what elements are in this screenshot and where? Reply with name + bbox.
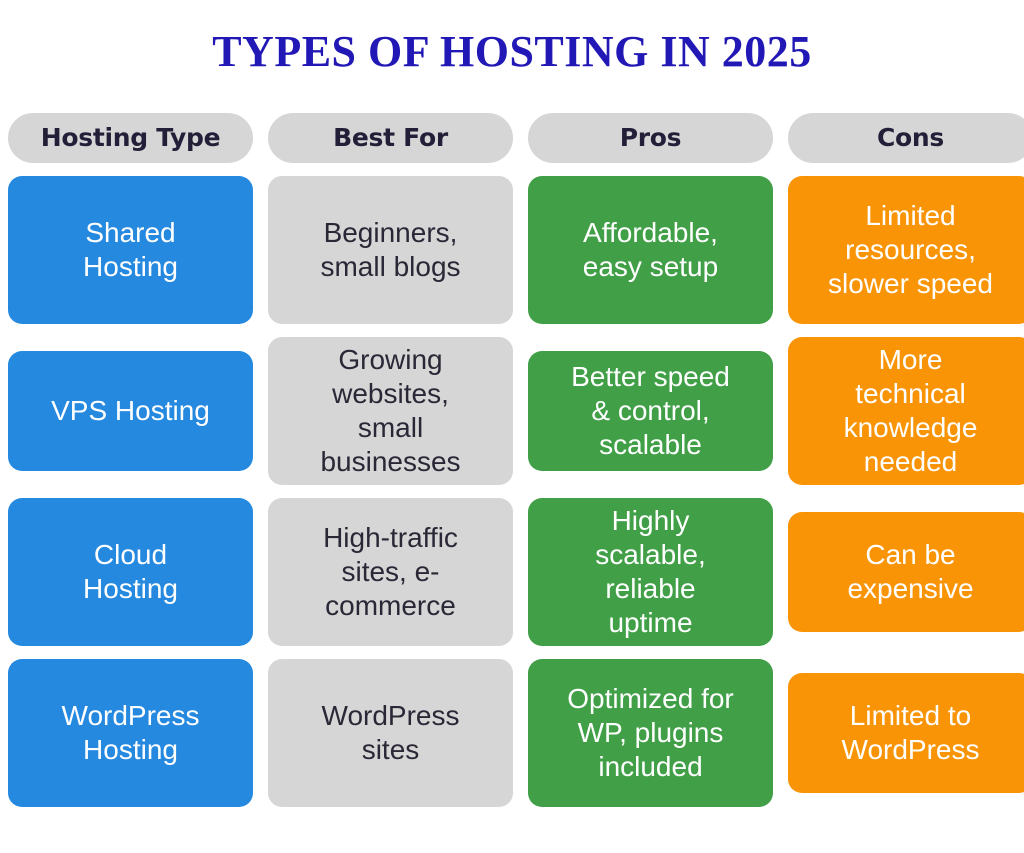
page-title: TYPES OF HOSTING IN 2025 xyxy=(0,30,1024,74)
cell-best-for: Growing websites, small businesses xyxy=(268,337,513,485)
cell-cons: More technical knowledge needed xyxy=(788,337,1024,485)
cell-cons: Limited to WordPress xyxy=(788,673,1024,793)
cell-hosting-type: WordPress Hosting xyxy=(8,659,253,807)
cell-text: Limited to WordPress xyxy=(842,699,980,767)
column-header-label: Cons xyxy=(877,125,944,151)
cell-pros: Optimized for WP, plugins included xyxy=(528,659,773,807)
cell-text: Beginners, small blogs xyxy=(320,216,460,284)
cell-pros: Highly scalable, reliable uptime xyxy=(528,498,773,646)
column-header-label: Best For xyxy=(333,125,448,151)
cell-text: Shared Hosting xyxy=(83,216,178,284)
cell-pros: Better speed & control, scalable xyxy=(528,351,773,471)
cell-text: Limited resources, slower speed xyxy=(828,199,993,301)
cell-text: VPS Hosting xyxy=(51,394,210,428)
cell-text: Optimized for WP, plugins included xyxy=(567,682,734,784)
cell-hosting-type: Shared Hosting xyxy=(8,176,253,324)
cell-hosting-type: Cloud Hosting xyxy=(8,498,253,646)
column-header-cons: Cons xyxy=(788,113,1024,163)
column-header-label: Hosting Type xyxy=(41,125,221,151)
column-header-hosting-type: Hosting Type xyxy=(8,113,253,163)
cell-cons: Limited resources, slower speed xyxy=(788,176,1024,324)
cell-cons: Can be expensive xyxy=(788,512,1024,632)
cell-text: Better speed & control, scalable xyxy=(571,360,730,462)
column-header-pros: Pros xyxy=(528,113,773,163)
cell-best-for: WordPress sites xyxy=(268,659,513,807)
cell-text: More technical knowledge needed xyxy=(844,343,978,480)
cell-text: Highly scalable, reliable uptime xyxy=(595,504,706,641)
column-header-label: Pros xyxy=(620,125,682,151)
infographic-page: TYPES OF HOSTING IN 2025 Hosting Type Be… xyxy=(0,0,1024,853)
cell-best-for: Beginners, small blogs xyxy=(268,176,513,324)
cell-text: High-traffic sites, e- commerce xyxy=(323,521,458,623)
cell-hosting-type: VPS Hosting xyxy=(8,351,253,471)
cell-text: Can be expensive xyxy=(847,538,973,606)
cell-text: WordPress Hosting xyxy=(62,699,200,767)
cell-text: Affordable, easy setup xyxy=(583,216,718,284)
cell-pros: Affordable, easy setup xyxy=(528,176,773,324)
column-header-best-for: Best For xyxy=(268,113,513,163)
cell-best-for: High-traffic sites, e- commerce xyxy=(268,498,513,646)
cell-text: Growing websites, small businesses xyxy=(320,343,460,480)
hosting-comparison-table: Hosting Type Best For Pros Cons Shared H… xyxy=(8,113,1018,807)
cell-text: WordPress sites xyxy=(322,699,460,767)
cell-text: Cloud Hosting xyxy=(83,538,178,606)
